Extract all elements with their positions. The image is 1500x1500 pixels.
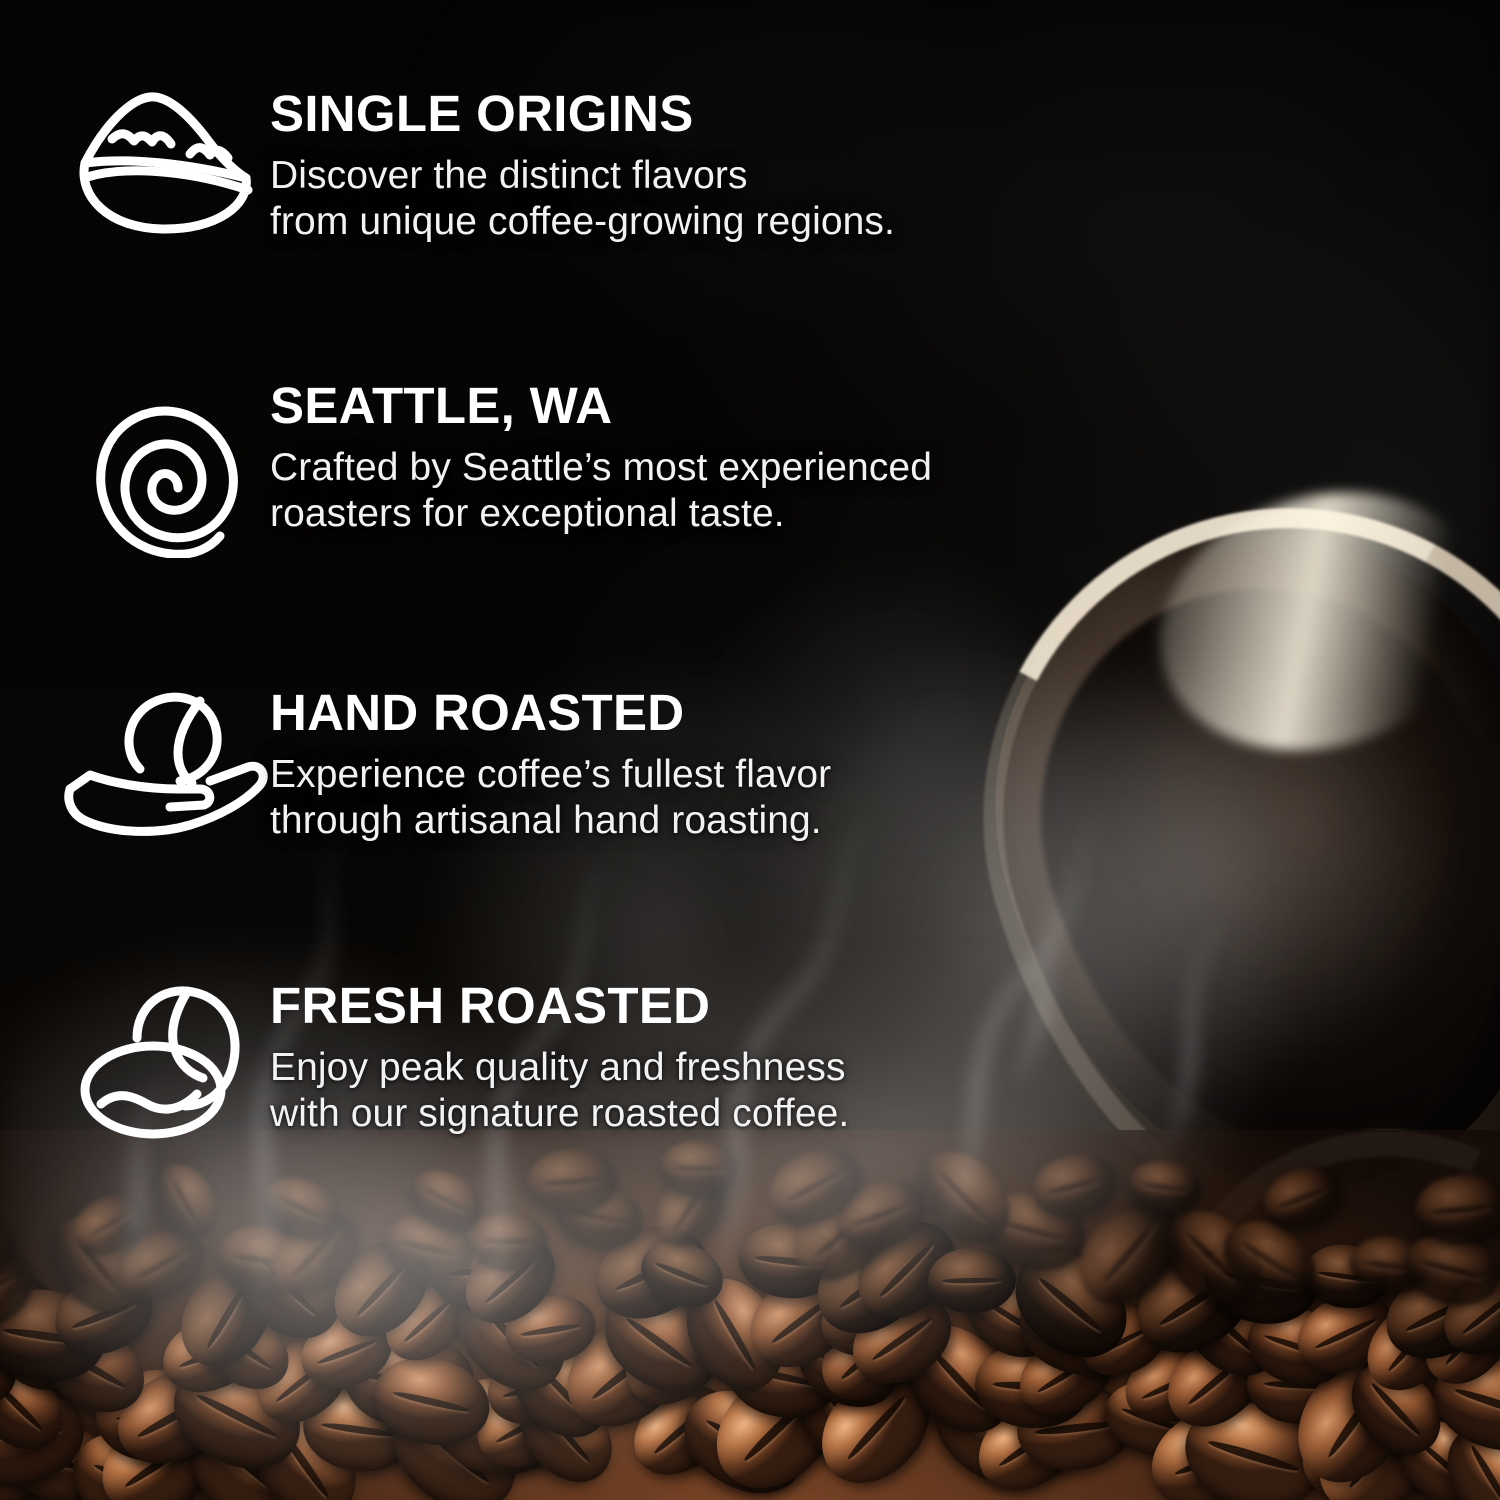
coffee-beans-pile xyxy=(0,1130,1500,1500)
two-coffee-beans-icon xyxy=(60,978,270,1148)
feature-text: SINGLE ORIGINS Discover the distinct fla… xyxy=(270,86,895,244)
feature-desc-line: through artisanal hand roasting. xyxy=(270,798,831,844)
feature-text: HAND ROASTED Experience coffee’s fullest… xyxy=(270,685,831,843)
hand-holding-bean-icon xyxy=(60,685,270,837)
coffee-beans xyxy=(0,1130,1500,1500)
feature-text: FRESH ROASTED Enjoy peak quality and fre… xyxy=(270,978,849,1136)
feature-description: Experience coffee’s fullest flavor throu… xyxy=(270,752,831,843)
mountain-coffee-bean-icon xyxy=(60,86,270,238)
feature-description: Enjoy peak quality and freshness with ou… xyxy=(270,1045,849,1136)
feature-desc-line: Enjoy peak quality and freshness xyxy=(270,1045,849,1091)
feature-item-seattle-wa: SEATTLE, WA Crafted by Seattle’s most ex… xyxy=(60,378,932,558)
feature-desc-line: Experience coffee’s fullest flavor xyxy=(270,752,831,798)
feature-title: SEATTLE, WA xyxy=(270,380,932,431)
fingerprint-icon xyxy=(60,378,270,558)
feature-title: SINGLE ORIGINS xyxy=(270,88,895,139)
feature-item-single-origins: SINGLE ORIGINS Discover the distinct fla… xyxy=(60,86,895,244)
feature-desc-line: Crafted by Seattle’s most experienced xyxy=(270,445,932,491)
feature-description: Crafted by Seattle’s most experienced ro… xyxy=(270,445,932,536)
feature-desc-line: from unique coffee-growing regions. xyxy=(270,199,895,245)
feature-title: FRESH ROASTED xyxy=(270,980,849,1031)
feature-description: Discover the distinct flavors from uniqu… xyxy=(270,153,895,244)
feature-title: HAND ROASTED xyxy=(270,687,831,738)
promo-banner: SINGLE ORIGINS Discover the distinct fla… xyxy=(0,0,1500,1500)
feature-item-hand-roasted: HAND ROASTED Experience coffee’s fullest… xyxy=(60,685,831,843)
feature-desc-line: Discover the distinct flavors xyxy=(270,153,895,199)
feature-item-fresh-roasted: FRESH ROASTED Enjoy peak quality and fre… xyxy=(60,978,849,1148)
feature-desc-line: roasters for exceptional taste. xyxy=(270,491,932,537)
feature-desc-line: with our signature roasted coffee. xyxy=(270,1091,849,1137)
coffee-bean xyxy=(660,1139,739,1197)
feature-text: SEATTLE, WA Crafted by Seattle’s most ex… xyxy=(270,378,932,536)
